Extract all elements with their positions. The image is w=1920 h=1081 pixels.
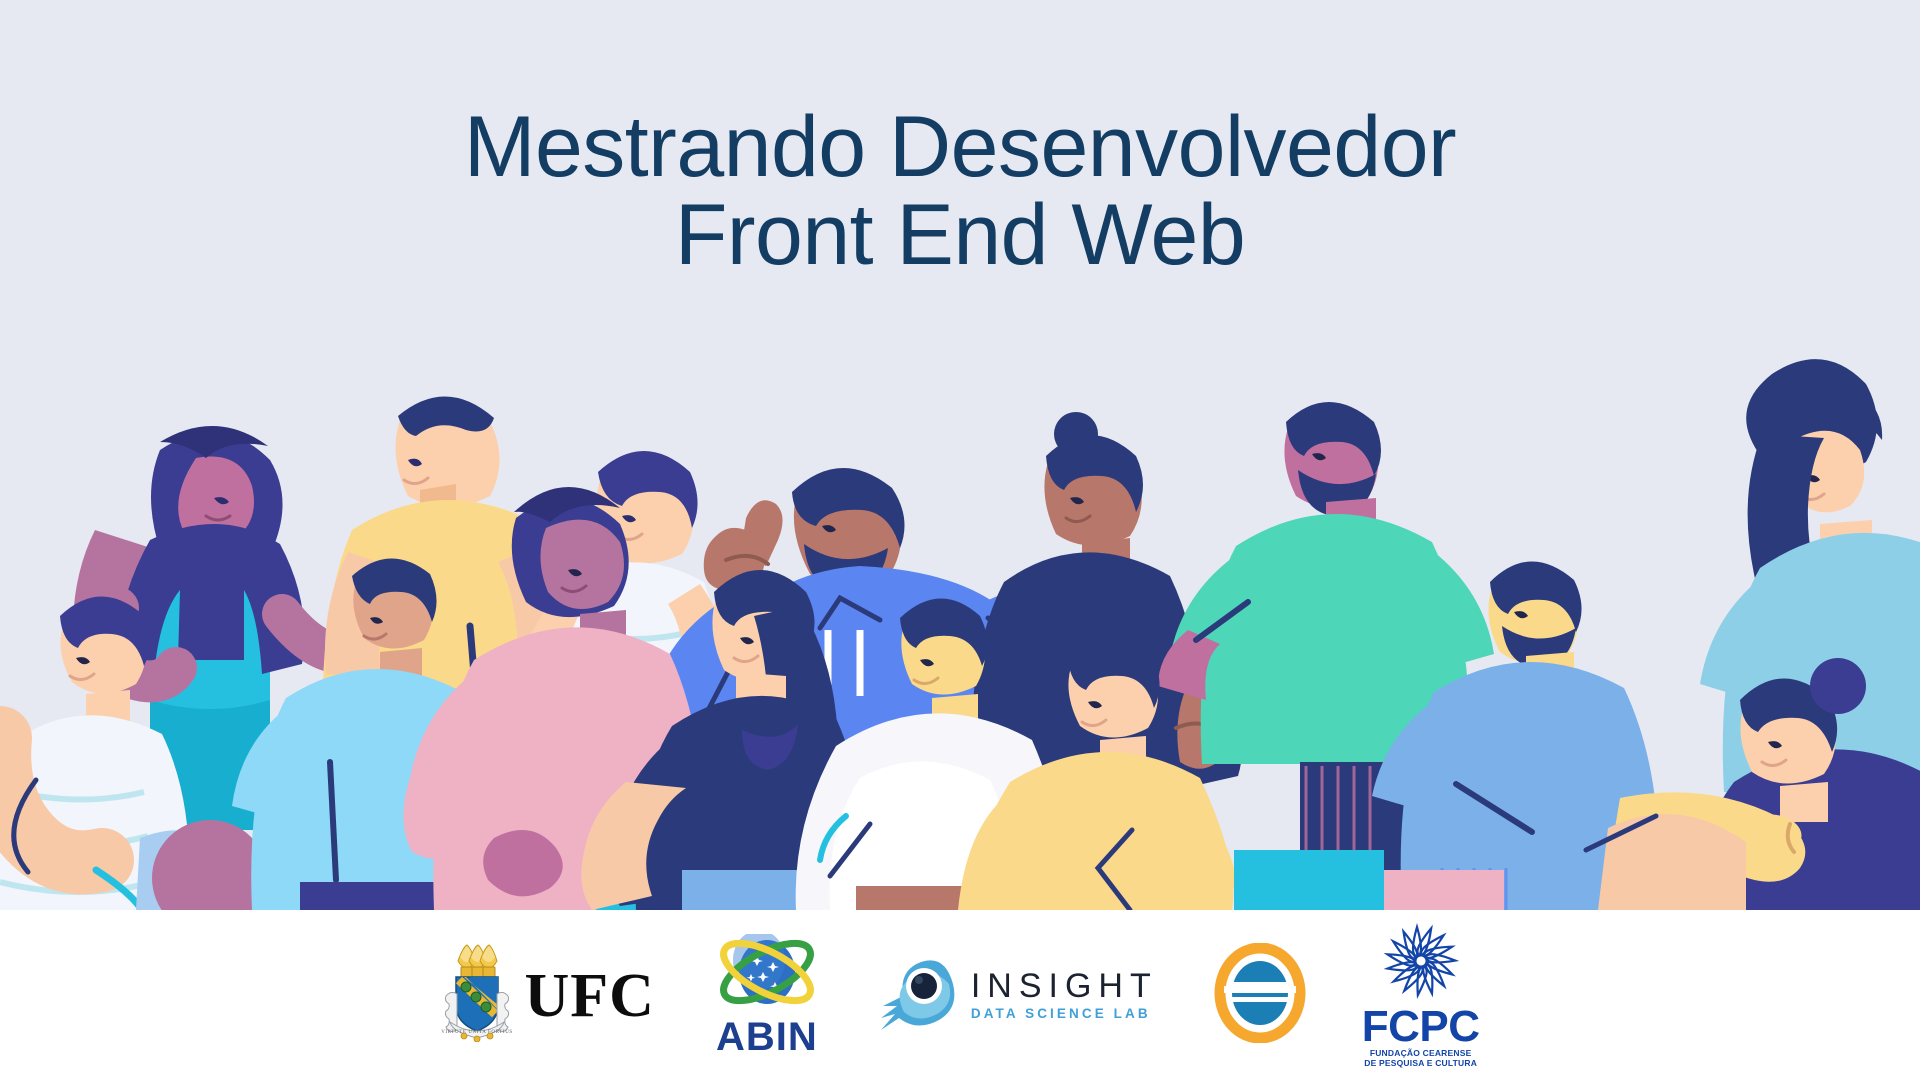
fcpc-tagline-line-2: DE PESQUISA E CULTURA [1364,1058,1477,1068]
orange-ring-icon [1214,943,1306,1048]
ufc-crest-icon: VIRTUTE UNITA FORTIUS [440,944,514,1047]
logo-ufc: VIRTUTE UNITA FORTIUS UFC [440,944,654,1047]
insight-wordmark: INSIGHT [971,969,1158,1005]
svg-text:VIRTUTE UNITA FORTIUS: VIRTUTE UNITA FORTIUS [442,1030,514,1035]
page-title: Mestrando Desenvolvedor Front End Web [0,104,1920,279]
logo-insight: INSIGHT DATA SCIENCE LAB [879,954,1158,1037]
fcpc-tagline-line-1: FUNDAÇÃO CEARENSE [1370,1048,1472,1058]
crowd-illustration [0,330,1920,910]
insight-comet-icon [879,954,961,1037]
fcpc-burst-icon [1375,923,1467,1004]
insight-tagline: DATA SCIENCE LAB [971,1007,1158,1022]
sponsor-logo-bar: VIRTUTE UNITA FORTIUS UFC [0,910,1920,1081]
insight-text-block: INSIGHT DATA SCIENCE LAB [971,969,1158,1023]
abin-wordmark: ABIN [716,1017,818,1057]
abin-globe-icon [711,934,823,1023]
ufc-wordmark: UFC [524,965,654,1027]
fcpc-wordmark: FCPC [1362,1006,1480,1048]
logo-abin: ABIN [711,934,823,1057]
title-line-2: Front End Web [0,192,1920,280]
fcpc-tagline: FUNDAÇÃO CEARENSE DE PESQUISA E CULTURA [1364,1048,1477,1068]
logo-orange-ring [1214,943,1306,1048]
slide-root: Mestrando Desenvolvedor Front End Web [0,0,1920,1081]
title-line-1: Mestrando Desenvolvedor [0,104,1920,192]
logo-fcpc: FCPC FUNDAÇÃO CEARENSE DE PESQUISA E CUL… [1362,923,1480,1069]
